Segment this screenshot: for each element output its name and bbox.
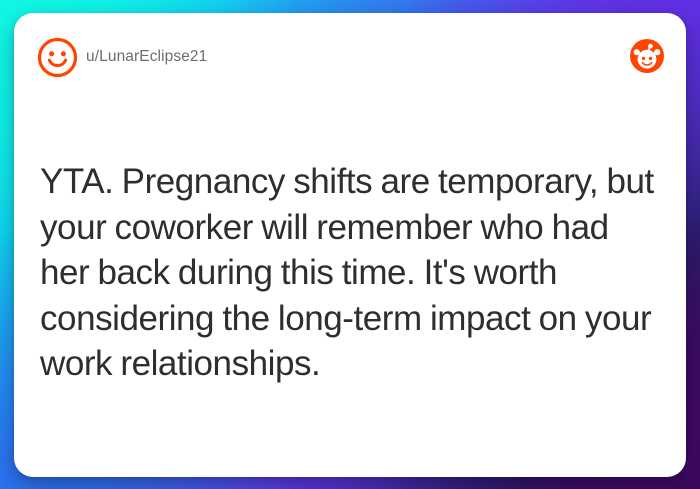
reddit-comment-card: u/LunarEclipse21 YTA. Pregnancy shifts a… xyxy=(14,13,686,477)
reddit-snoo-logo-icon xyxy=(630,39,664,73)
card-header: u/LunarEclipse21 xyxy=(14,13,686,109)
smiley-face-avatar-icon xyxy=(37,37,78,78)
quote-card-canvas: u/LunarEclipse21 YTA. Pregnancy shifts a… xyxy=(0,0,700,489)
comment-text: YTA. Pregnancy shifts are temporary, but… xyxy=(40,159,664,387)
username-label: u/LunarEclipse21 xyxy=(86,48,207,66)
